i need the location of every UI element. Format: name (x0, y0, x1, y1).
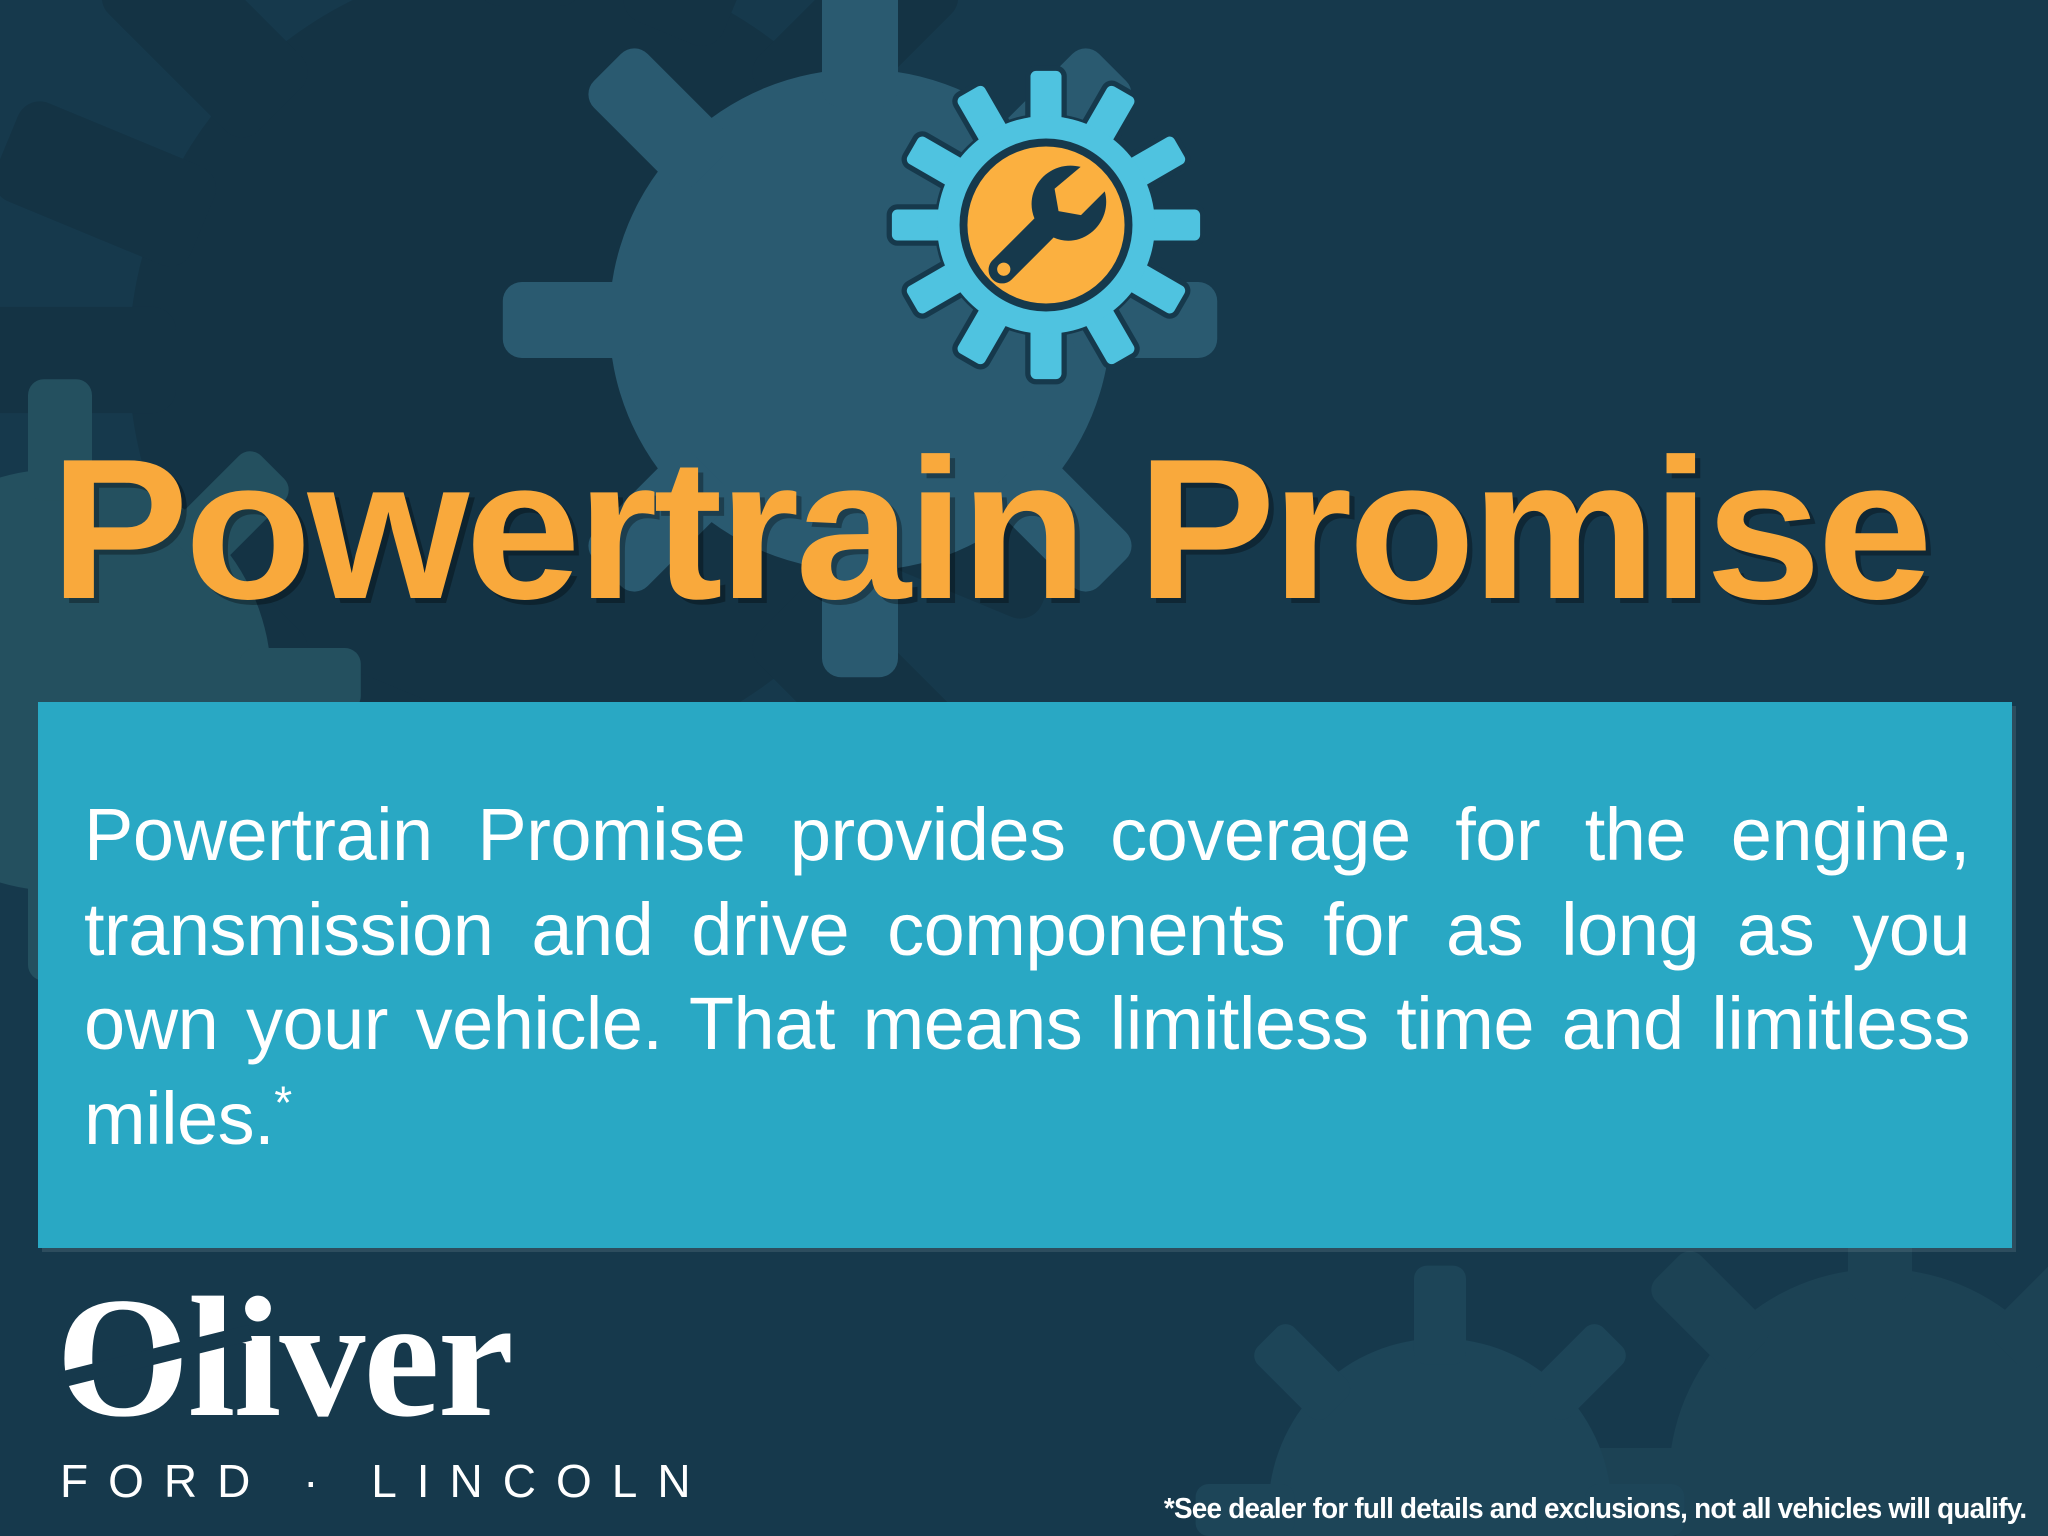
powertrain-promise-poster: Powertrain Promise Powertrain Promise pr… (0, 0, 2048, 1536)
gear-wrench-icon (866, 60, 1226, 390)
description-paragraph: Powertrain Promise provides coverage for… (84, 793, 1970, 1160)
page-title: Powertrain Promise (50, 430, 2048, 630)
description-text: Powertrain Promise provides coverage for… (84, 788, 1970, 1262)
logo-subtitle: FORD · LINCOLN (60, 1454, 711, 1508)
footnote-marker: * (274, 1077, 291, 1129)
dealer-logo[interactable]: Oliver FORD · LINCOLN (56, 1278, 676, 1508)
disclaimer-text: *See dealer for full details and exclusi… (1164, 1493, 2026, 1526)
description-panel: Powertrain Promise provides coverage for… (38, 702, 2012, 1248)
